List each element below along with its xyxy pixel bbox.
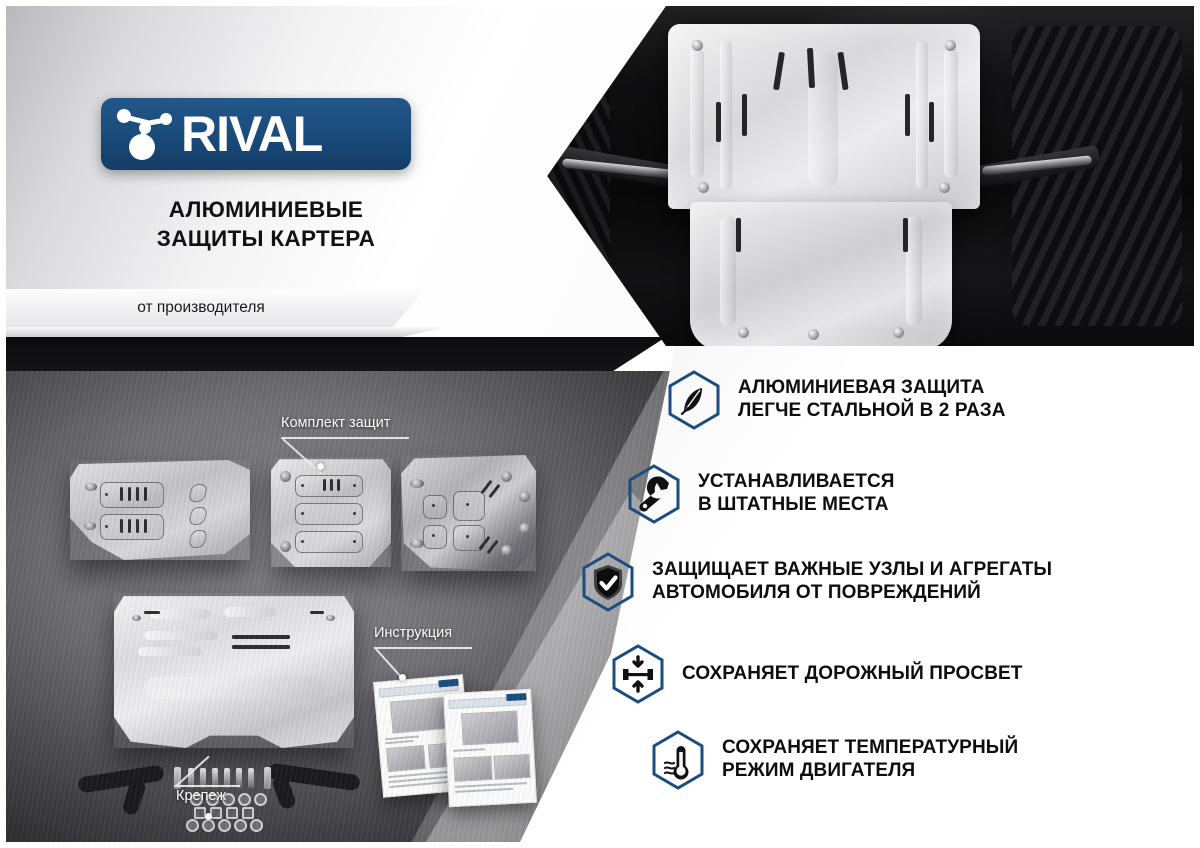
callout-instruction-leader (375, 648, 400, 676)
frame-bottom (0, 842, 1200, 848)
benefit-text-fitment: УСТАНАВЛИВАЕТСЯ В ШТАТНЫЕ МЕСТА (698, 471, 895, 517)
callout-kit-underline (281, 437, 409, 439)
shield-check-icon (580, 552, 636, 612)
callout-instruction-underline (374, 647, 472, 649)
page-title: АЛЮМИНИЕВЫЕ ЗАЩИТЫ КАРТЕРА (6, 196, 526, 254)
skid-plate-c (401, 455, 536, 571)
callout-instruction: Инструкция (374, 625, 452, 641)
benefit-item-weight: АЛЮМИНИЕВАЯ ЗАЩИТА ЛЕГЧЕ СТАЛЬНОЙ В 2 РА… (666, 370, 1006, 430)
skid-plate-a (70, 460, 250, 560)
callout-fasteners-underline (174, 785, 240, 787)
wrench-icon (626, 464, 682, 524)
benefit-text-clearance: СОХРАНЯЕТ ДОРОЖНЫЙ ПРОСВЕТ (682, 663, 1023, 686)
subtitle-banner: от производителя (6, 289, 426, 327)
benefits-list: АЛЮМИНИЕВАЯ ЗАЩИТА ЛЕГЧЕ СТАЛЬНОЙ В 2 РА… (520, 346, 1194, 842)
frame-right (1194, 0, 1200, 848)
skid-plate-b (271, 457, 391, 567)
benefit-item-clearance: СОХРАНЯЕТ ДОРОЖНЫЙ ПРОСВЕТ (610, 644, 1023, 704)
callout-fasteners-dot (205, 813, 212, 820)
callout-kit-dot (317, 463, 324, 470)
frame-left (0, 0, 6, 848)
ground-clearance-icon (610, 644, 666, 704)
rival-logo[interactable]: RIVAL (101, 98, 411, 170)
thermometer-icon (650, 730, 706, 790)
header-underline (6, 327, 446, 337)
rival-logo-text: RIVAL (181, 109, 322, 159)
page-title-line2: ЗАЩИТЫ КАРТЕРА (6, 225, 526, 254)
installed-skid-plate-lower (690, 202, 952, 346)
molecule-icon (111, 103, 185, 165)
callout-instruction-dot (399, 674, 406, 681)
installed-skid-plate-upper (668, 24, 980, 209)
skid-plate-main-large (114, 593, 354, 748)
benefit-item-temperature: СОХРАНЯЕТ ТЕМПЕРАТУРНЫЙ РЕЖИМ ДВИГАТЕЛЯ (650, 730, 1018, 790)
benefit-text-temperature: СОХРАНЯЕТ ТЕМПЕРАТУРНЫЙ РЕЖИМ ДВИГАТЕЛЯ (722, 737, 1018, 783)
benefit-text-weight: АЛЮМИНИЕВАЯ ЗАЩИТА ЛЕГЧЕ СТАЛЬНОЙ В 2 РА… (738, 377, 1006, 423)
poster-root: Преимущества RIVAL АЛЮМИНИЕВЫЕ ЗАЩИТЫ КА… (0, 0, 1200, 848)
callout-kit: Комплект защит (281, 415, 390, 431)
callout-fasteners: Крепеж (176, 788, 226, 804)
page-title-line1: АЛЮМИНИЕВЫЕ (6, 196, 526, 225)
subtitle-text: от производителя (6, 299, 396, 317)
benefit-item-protection: ЗАЩИЩАЕТ ВАЖНЫЕ УЗЛЫ И АГРЕГАТЫ АВТОМОБИ… (580, 552, 1052, 612)
leaf-icon (666, 370, 722, 430)
mounting-bracket-left (77, 764, 164, 793)
benefit-text-protection: ЗАЩИЩАЕТ ВАЖНЫЕ УЗЛЫ И АГРЕГАТЫ АВТОМОБИ… (652, 559, 1052, 605)
benefit-item-fitment: УСТАНАВЛИВАЕТСЯ В ШТАТНЫЕ МЕСТА (626, 464, 895, 524)
frame-top (0, 0, 1200, 6)
